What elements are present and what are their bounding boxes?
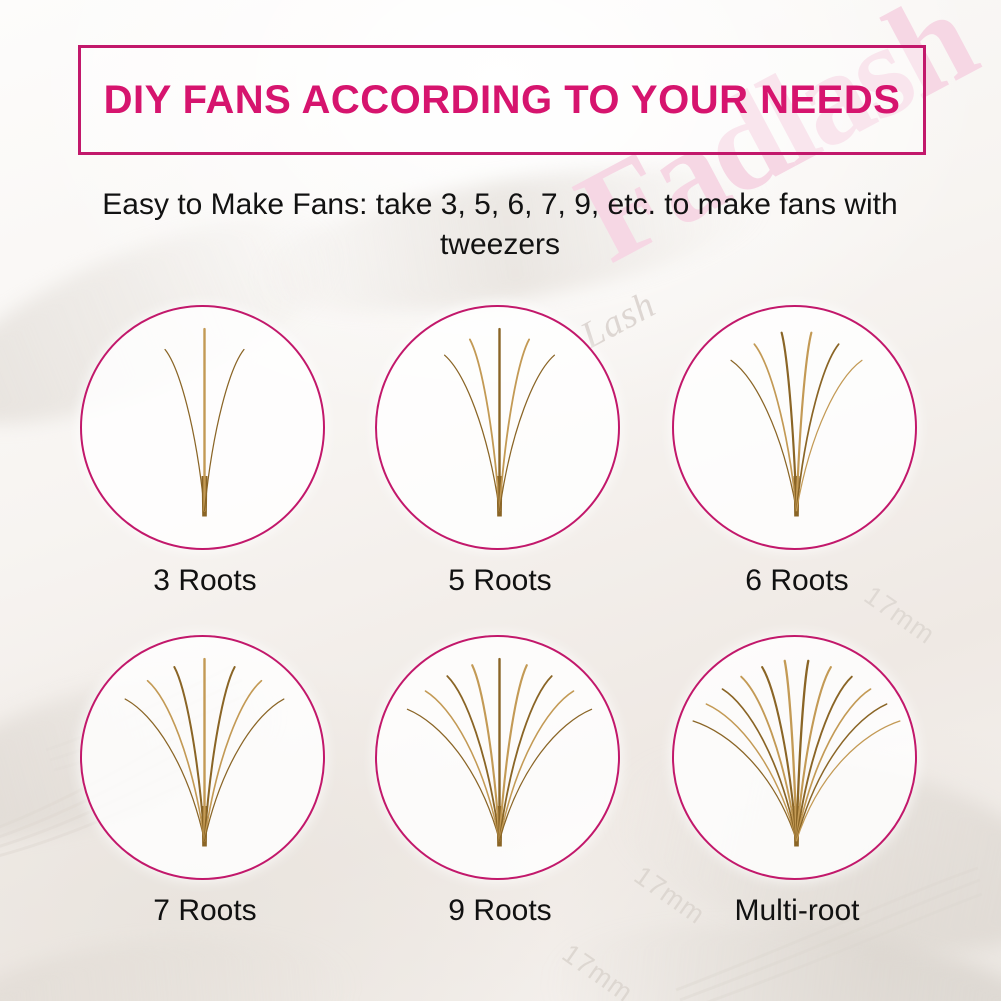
lash-strand xyxy=(500,691,574,840)
lash-fan-7-icon xyxy=(82,637,325,880)
lash-strand xyxy=(754,344,796,510)
lash-strand xyxy=(425,691,499,840)
fan-card-5-roots: 5 Roots xyxy=(375,305,625,598)
fan-illustration-circle xyxy=(80,305,325,550)
fan-card-6-roots: 6 Roots xyxy=(672,305,922,598)
fan-illustration-circle xyxy=(375,305,620,550)
fan-label: 9 Roots xyxy=(375,894,625,928)
fan-label: Multi-root xyxy=(672,894,922,928)
fan-label: 5 Roots xyxy=(375,564,625,598)
fan-card-9-roots: 9 Roots xyxy=(375,635,625,928)
title-banner: DIY FANS ACCORDING TO YOUR NEEDS xyxy=(78,45,926,155)
page-subtitle: Easy to Make Fans: take 3, 5, 6, 7, 9, e… xyxy=(90,185,910,264)
lash-strand xyxy=(205,350,244,511)
lash-fan-3-icon xyxy=(82,307,325,550)
lash-strand xyxy=(407,709,499,840)
lash-strand xyxy=(500,709,592,840)
lash-fan-multi-icon xyxy=(674,637,917,880)
lash-strand xyxy=(797,344,839,510)
lash-strand xyxy=(722,689,796,840)
fan-label: 6 Roots xyxy=(672,564,922,598)
fan-illustration-circle xyxy=(672,305,917,550)
lash-fan-5-icon xyxy=(377,307,620,550)
fan-illustration-circle xyxy=(672,635,917,880)
fan-illustration-circle xyxy=(80,635,325,880)
fan-label: 3 Roots xyxy=(80,564,330,598)
lash-strand xyxy=(125,699,204,840)
lash-fan-9-icon xyxy=(377,637,620,880)
fan-illustration-circle xyxy=(375,635,620,880)
lash-strand xyxy=(205,699,284,840)
fan-card-7-roots: 7 Roots xyxy=(80,635,330,928)
fan-label: 7 Roots xyxy=(80,894,330,928)
lash-fan-6-icon xyxy=(674,307,917,550)
lash-strand xyxy=(731,360,796,510)
lash-strand xyxy=(797,360,862,510)
page-title: DIY FANS ACCORDING TO YOUR NEEDS xyxy=(104,78,901,123)
fan-card-multi-root: Multi-root xyxy=(672,635,922,928)
lash-strand xyxy=(797,689,871,840)
lash-strand xyxy=(165,350,204,511)
fan-card-3-roots: 3 Roots xyxy=(80,305,330,598)
